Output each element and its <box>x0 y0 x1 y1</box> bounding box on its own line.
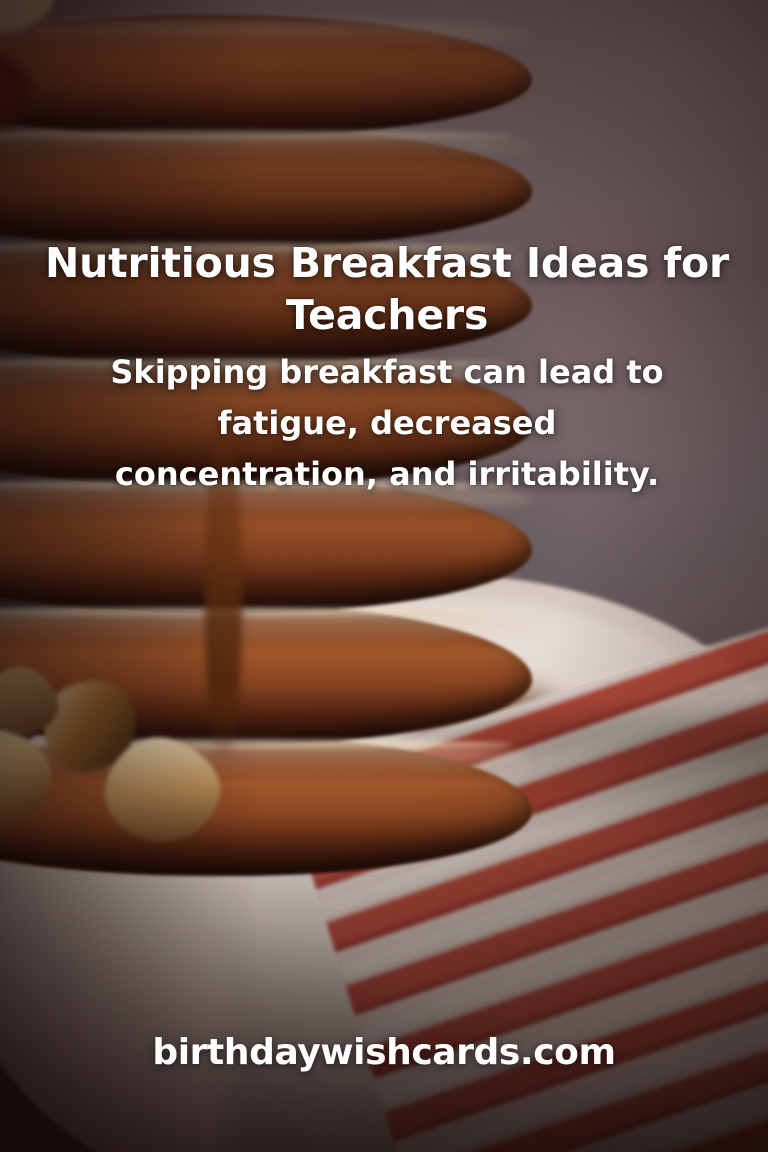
text-overlay: Nutritious Breakfast Ideas for Teachers … <box>0 0 768 1152</box>
card-subtitle: Skipping breakfast can lead to fatigue, … <box>97 347 677 500</box>
site-url-watermark: birthdaywishcards.com <box>152 1032 615 1073</box>
pinterest-style-quote-card: Nutritious Breakfast Ideas for Teachers … <box>0 0 768 1152</box>
headline-block: Nutritious Breakfast Ideas for Teachers … <box>40 238 734 500</box>
footer: birthdaywishcards.com <box>0 1032 768 1073</box>
card-title: Nutritious Breakfast Ideas for Teachers <box>40 238 734 341</box>
